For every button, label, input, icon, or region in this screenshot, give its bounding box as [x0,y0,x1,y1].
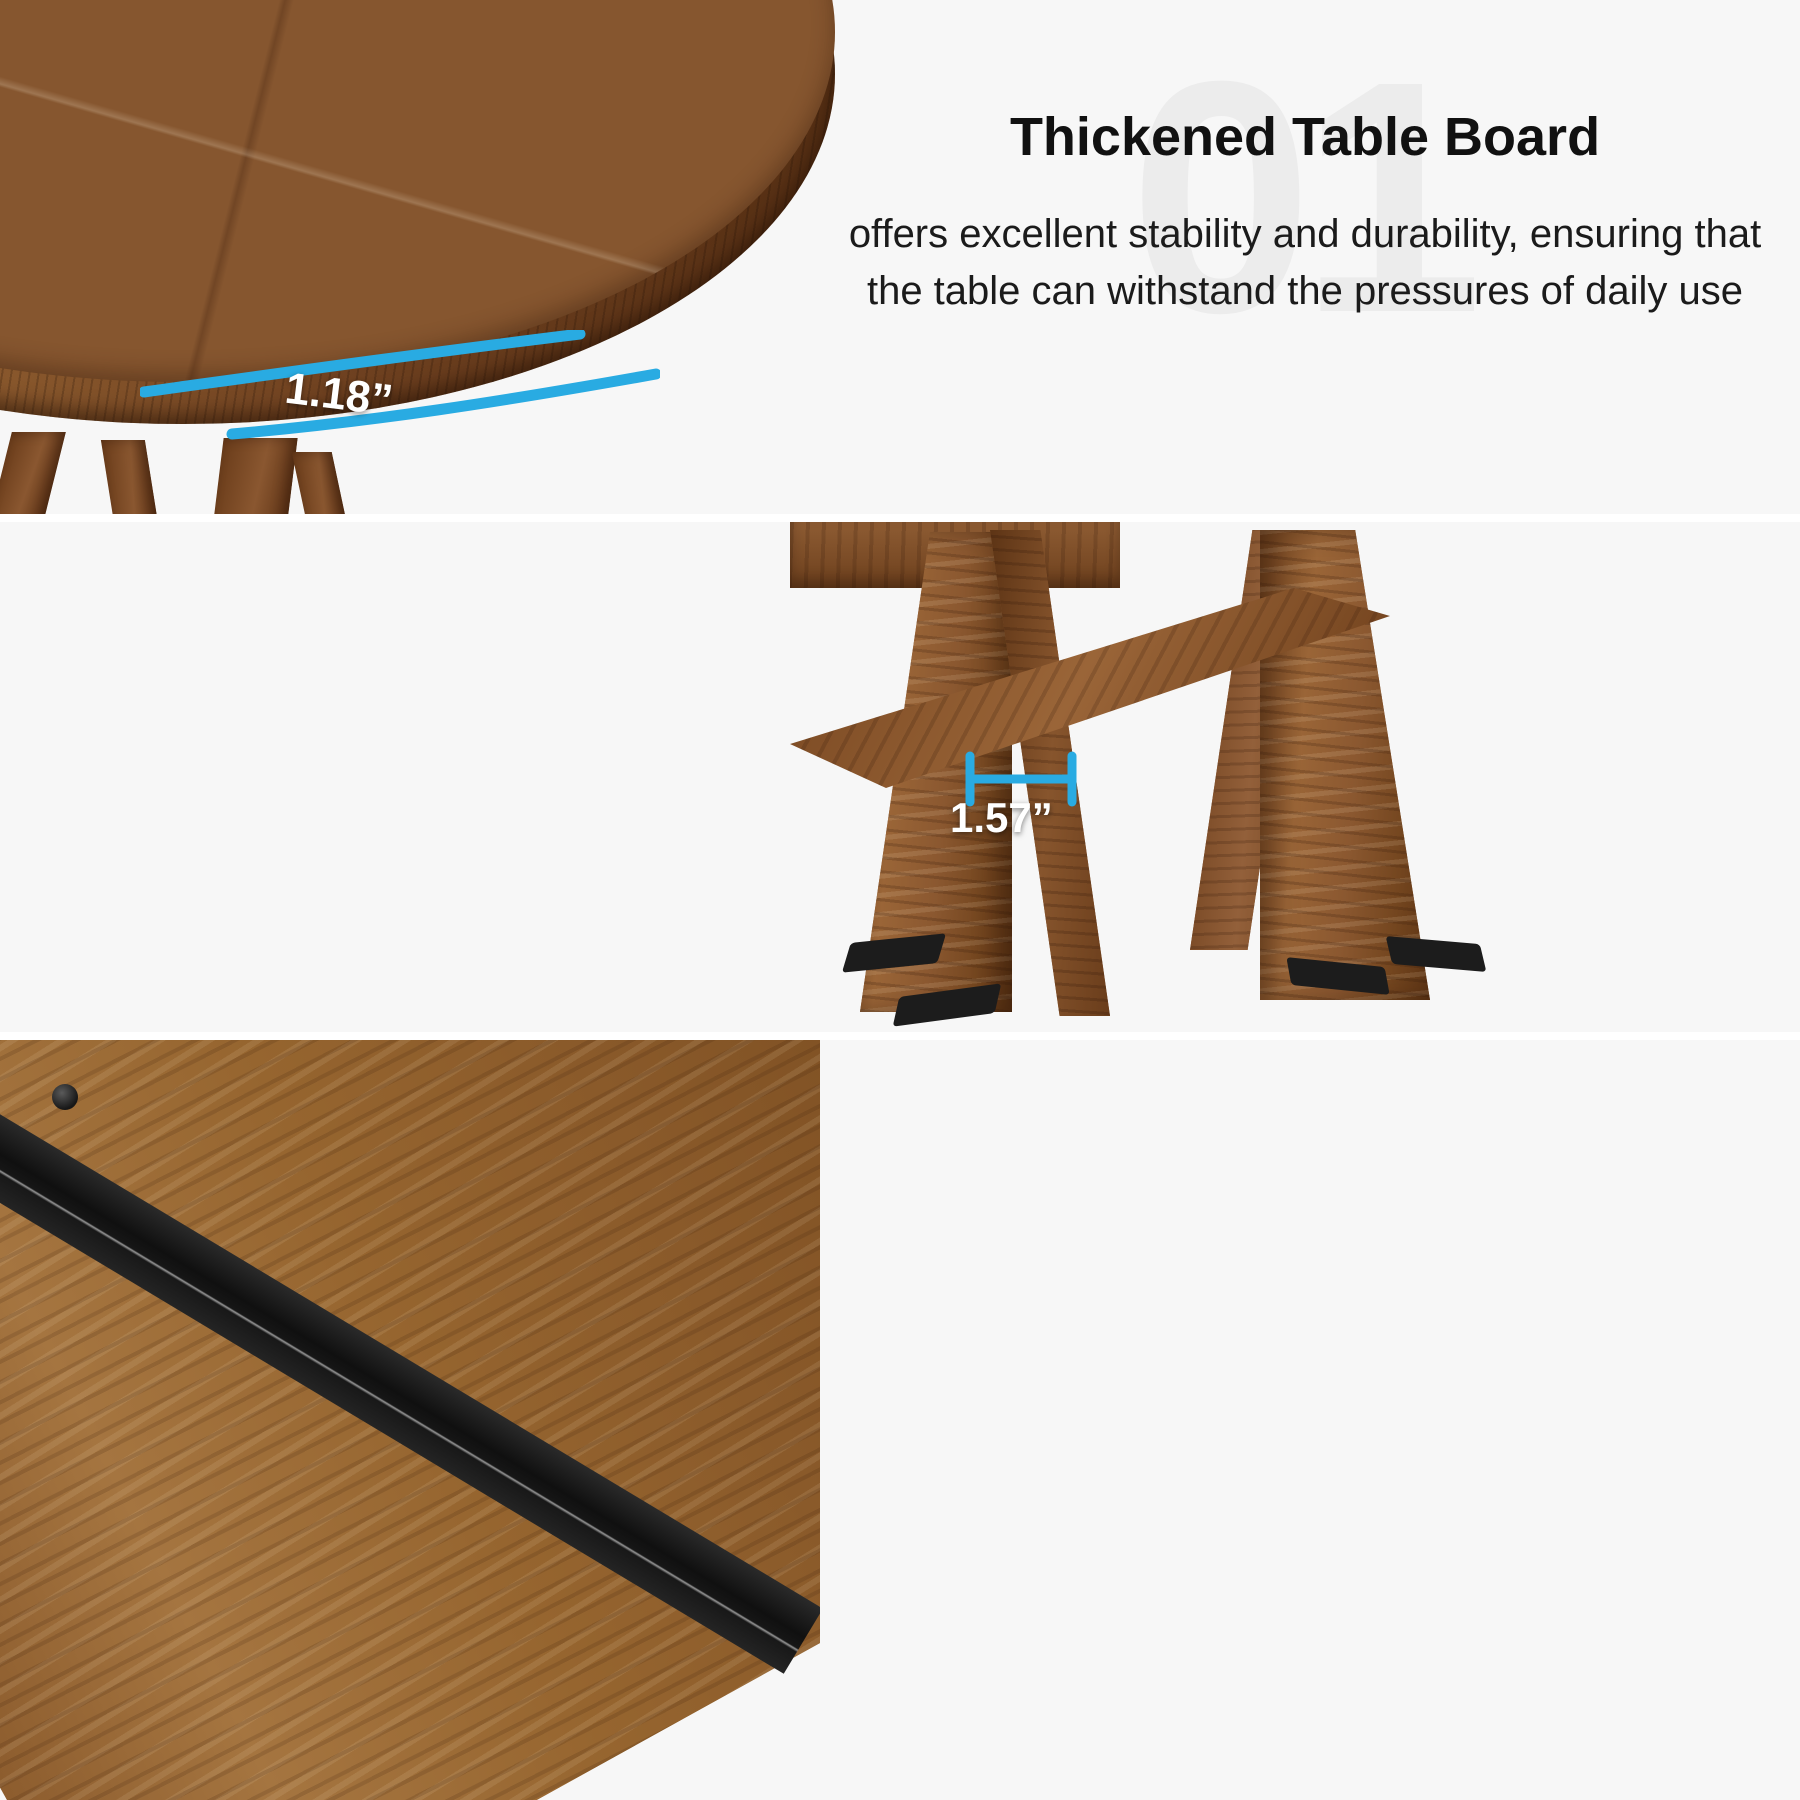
panel-1-body: offers excellent stability and durabilit… [830,206,1780,320]
panel-divider [0,514,1800,522]
panel-divider [0,1032,1800,1040]
table-base-photo: 1.57” [790,522,1800,1034]
table-top-photo [0,0,840,516]
base-width-dimension-label: 1.57” [950,794,1053,842]
table-leg [0,432,66,516]
feature-panel-adjustable-foot-pads: 03 Adjustable Foot Pads not only provide… [0,1040,1800,1800]
table-leg [101,440,159,516]
feature-panel-stable-table-base: 02 Stable Table Base maximizes support a… [0,522,1800,1034]
foot-pad-photo [0,1040,820,1800]
product-feature-infographic: 1.18” 01 Thickened Table Board offers ex… [0,0,1800,1800]
thickness-measure-line-icon [140,330,660,440]
panel-1-text-block: Thickened Table Board offers excellent s… [830,108,1780,360]
frame-screw [52,1084,78,1110]
table-leg [212,438,297,516]
feature-panel-thickened-table-board: 1.18” 01 Thickened Table Board offers ex… [0,0,1800,516]
table-leg [292,452,349,516]
panel-1-title: Thickened Table Board [830,108,1780,166]
